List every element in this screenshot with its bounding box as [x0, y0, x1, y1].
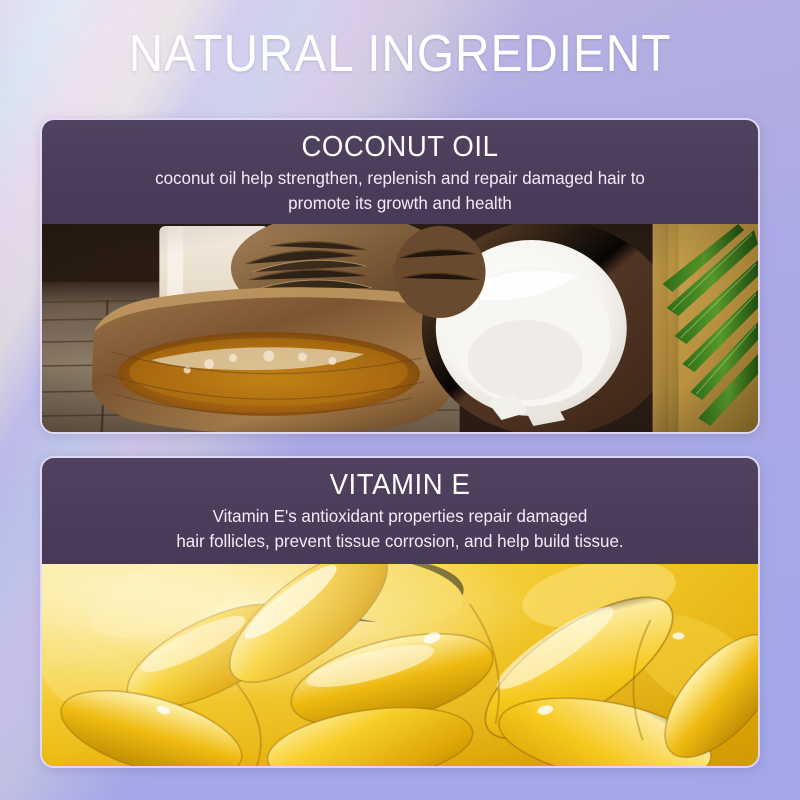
card-title-coconut-oil: COCONUT OIL [85, 130, 716, 165]
card-description-line-1-coconut-oil: coconut oil help strengthen, replenish a… [78, 167, 722, 189]
ingredient-card-coconut-oil: COCONUT OIL coconut oil help strengthen,… [40, 118, 760, 434]
ingredient-card-vitamin-e: VITAMIN E Vitamin E's antioxidant proper… [40, 456, 760, 768]
product-infographic-poster: NATURAL INGREDIENT COCONUT OIL coconut o… [0, 0, 800, 800]
vitamin-e-capsules-photo [42, 564, 758, 766]
card-title-vitamin-e: VITAMIN E [85, 468, 716, 503]
page-title: NATURAL INGREDIENT [32, 24, 768, 84]
card-description-line-2-coconut-oil: promote its growth and health [78, 192, 722, 214]
card-header-vitamin-e: VITAMIN E Vitamin E's antioxidant proper… [42, 458, 758, 564]
card-description-line-2-vitamin-e: hair follicles, prevent tissue corrosion… [78, 530, 722, 552]
card-header-coconut-oil: COCONUT OIL coconut oil help strengthen,… [42, 120, 758, 224]
card-description-line-1-vitamin-e: Vitamin E's antioxidant properties repai… [78, 505, 722, 527]
coconut-oil-photo [42, 224, 758, 432]
